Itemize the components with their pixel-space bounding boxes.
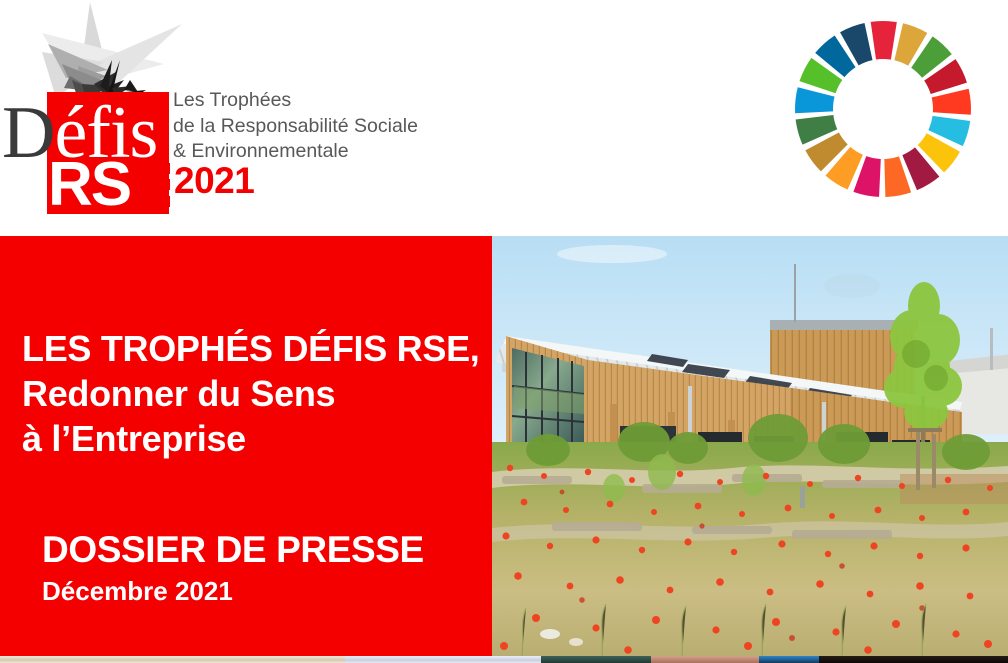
publication-date: Décembre 2021 [42,574,482,608]
dossier-de-presse-label: DOSSIER DE PRESSE [42,528,482,572]
logo-year: 2021 [174,162,254,199]
hero-title-line-3: à l’Entreprise [22,416,482,461]
filmstrip-thumb [819,656,1008,663]
sdg-segment [932,89,971,115]
brand-lockup: Défis RS 2021 Les Trophées de la Respons… [0,0,470,226]
brand-tagline: Les Trophées de la Responsabilité Social… [173,88,418,165]
hero-title-line-1: LES TROPHÉS DÉFIS RSE, [22,326,482,371]
page-header: Défis RS 2021 Les Trophées de la Respons… [0,0,1008,236]
filmstrip-thumb [759,656,819,663]
sdg-segment [795,87,835,113]
filmstrip-thumb [651,656,759,663]
tagline-line-3: & Environnementale [173,139,418,165]
wordmark-rse: RS [48,154,170,216]
hero-subtitle: DOSSIER DE PRESSE Décembre 2021 [42,528,482,608]
hero-title: LES TROPHÉS DÉFIS RSE, Redonner du Sens … [22,326,482,461]
wordmark-letter-d: D [2,92,54,174]
e-bars-icon [134,163,170,207]
press-kit-cover-page: Défis RS 2021 Les Trophées de la Respons… [0,0,1008,663]
sdg-color-wheel-icon [792,18,974,200]
photo-filmstrip [0,656,1008,663]
tagline-line-1: Les Trophées [173,88,418,114]
filmstrip-thumb [345,656,541,663]
tagline-line-2: de la Responsabilité Sociale [173,114,418,140]
sdg-segment [871,21,897,60]
wordmark-rs: RS [48,150,130,219]
hero-section: LES TROPHÉS DÉFIS RSE, Redonner du Sens … [0,236,1008,656]
filmstrip-thumb [0,656,345,663]
hero-title-line-2: Redonner du Sens [22,371,482,416]
filmstrip-thumb [541,656,651,663]
eco-building-photo [492,236,1008,656]
